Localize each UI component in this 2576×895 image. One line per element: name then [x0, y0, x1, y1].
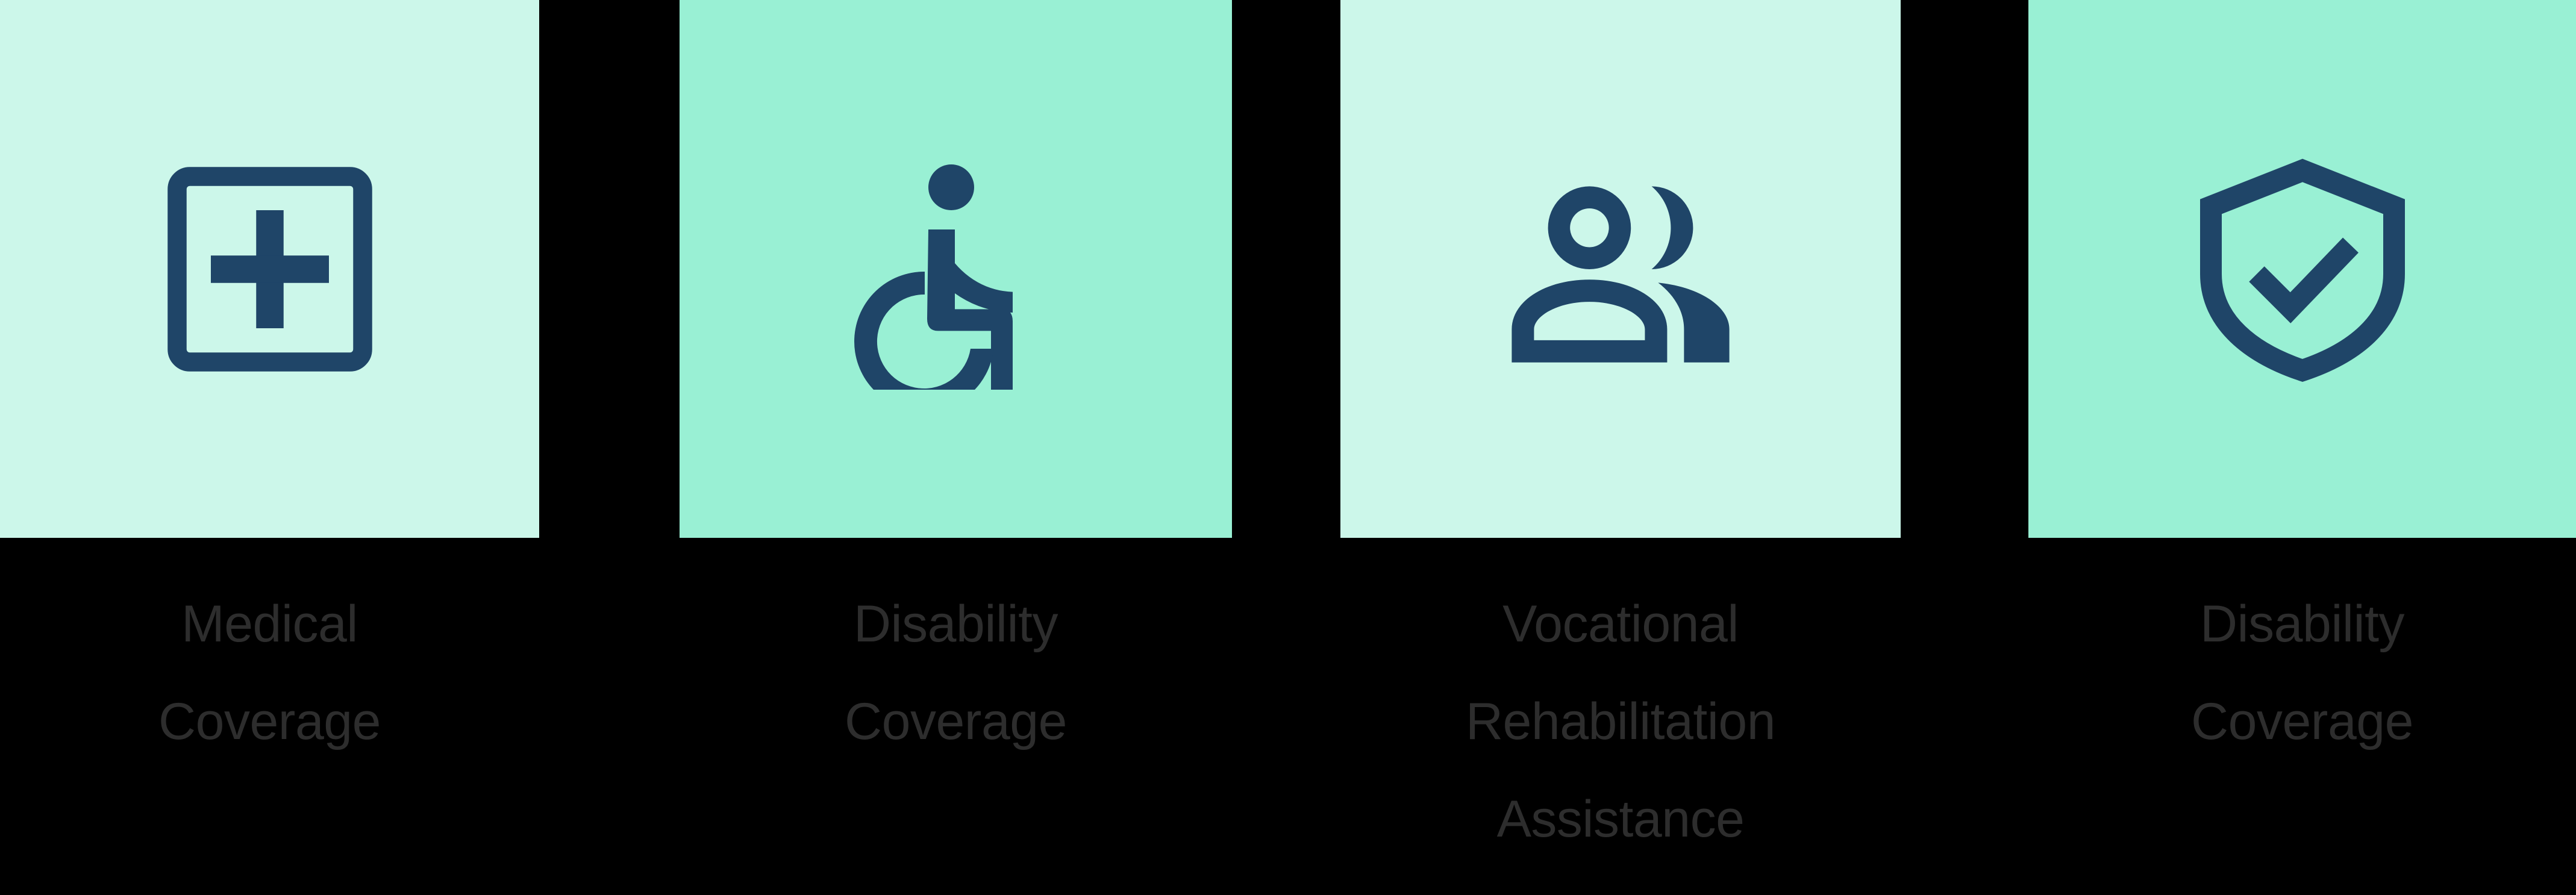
- benefit-card-label: Vocational Rehabilitation Assistance: [1340, 538, 1901, 868]
- benefits-card-grid: Medical Coverage Disability Coverage: [0, 0, 2576, 895]
- icon-tile: [0, 0, 539, 538]
- benefit-card-label: Disability Coverage: [2028, 538, 2576, 770]
- benefit-card-vocational-rehabilitation-assistance[interactable]: Vocational Rehabilitation Assistance: [1340, 0, 1901, 868]
- people-group-icon: [1491, 140, 1750, 399]
- benefit-card-label: Disability Coverage: [680, 538, 1232, 770]
- benefit-card-disability-coverage-secondary[interactable]: Disability Coverage: [2028, 0, 2576, 770]
- medical-cross-square-icon: [164, 164, 375, 375]
- benefit-card-medical-coverage[interactable]: Medical Coverage: [0, 0, 539, 770]
- icon-tile: [1340, 0, 1901, 538]
- benefit-card-disability-coverage[interactable]: Disability Coverage: [680, 0, 1232, 770]
- icon-tile: [2028, 0, 2576, 538]
- benefit-card-label: Medical Coverage: [0, 538, 539, 770]
- shield-check-icon: [2182, 149, 2423, 390]
- wheelchair-accessible-icon: [836, 149, 1077, 390]
- icon-tile: [680, 0, 1232, 538]
